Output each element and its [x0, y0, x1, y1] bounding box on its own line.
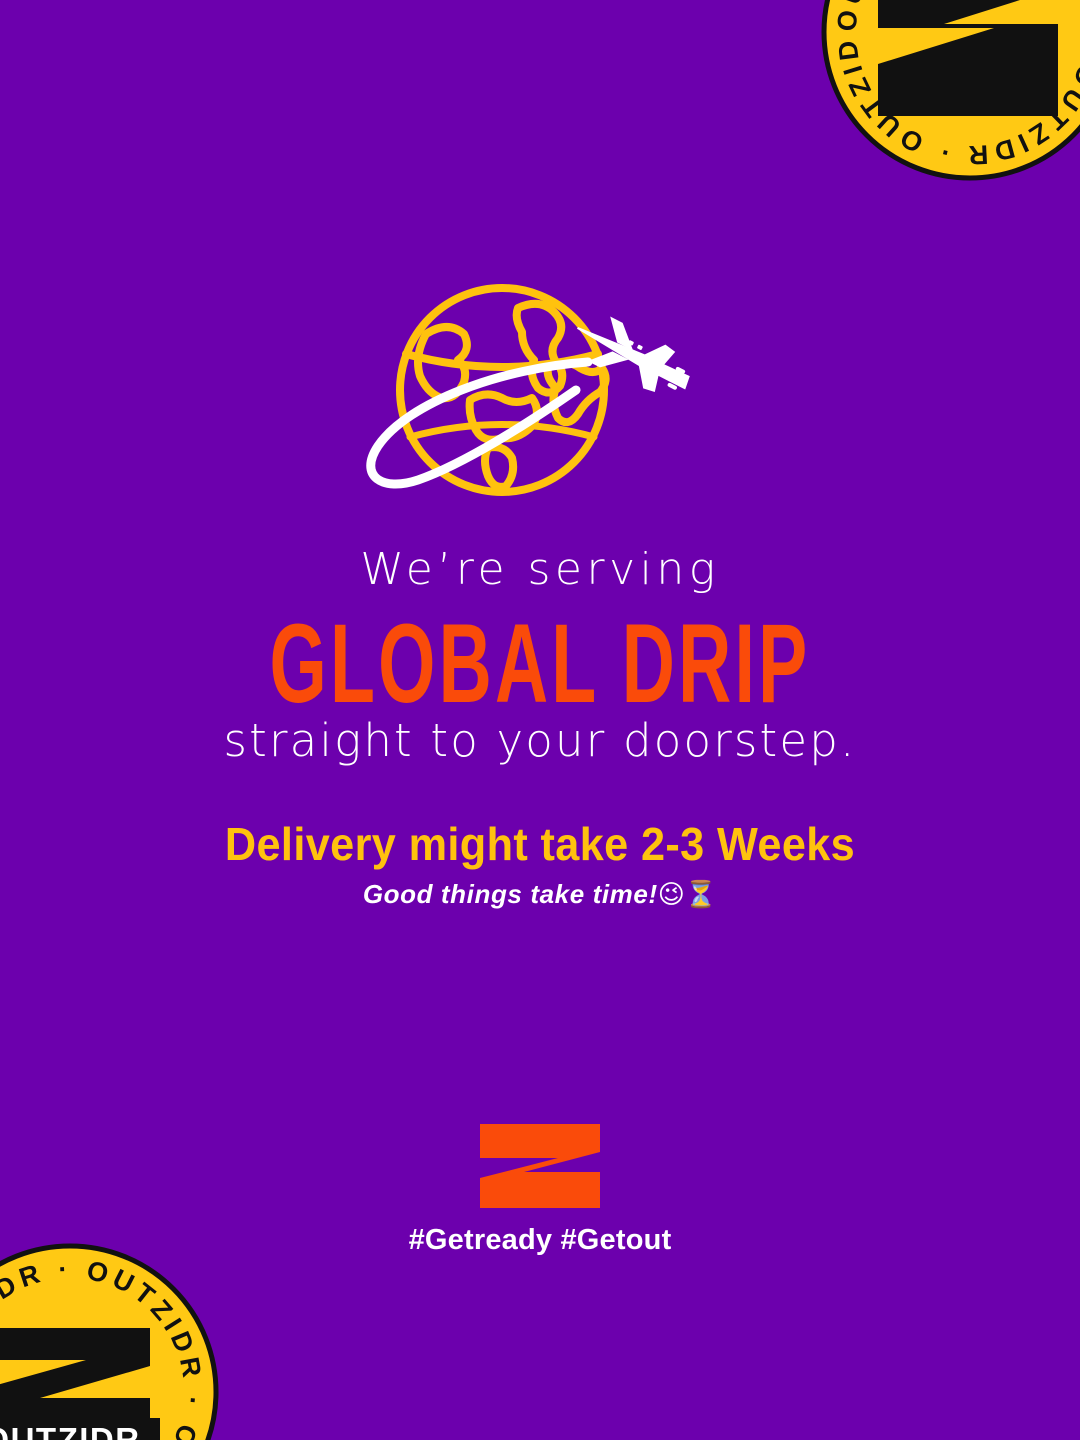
outzidr-z-logo — [478, 1122, 602, 1210]
delivery-block: Delivery might take 2-3 Weeks Good thing… — [0, 820, 1080, 910]
footer-block: #Getready #Getout — [0, 1122, 1080, 1255]
promo-poster: We’re serving GLOBAL DRIP straight to yo… — [0, 0, 1080, 1440]
outzidr-sticker-top-right: OUTZIDR · OUTZIDR · OUTZIDR · OUTZIDR · — [820, 0, 1080, 182]
delivery-estimate: Delivery might take 2-3 Weeks — [32, 820, 1047, 868]
outzidr-sticker-bottom-left: OUTZIDR · OUTZIDR · OUTZIDR · OUTZIDR · … — [0, 1242, 220, 1440]
headline-lede: We’re serving — [0, 548, 1080, 592]
globe-airplane-icon — [352, 272, 720, 508]
headline-emphasis: GLOBAL DRIP — [108, 608, 972, 720]
delivery-note: Good things take time!😉⏳ — [0, 880, 1080, 910]
headline-block: We’re serving GLOBAL DRIP straight to yo… — [0, 548, 1080, 763]
delivery-note-text: Good things take time! — [363, 879, 658, 909]
wink-hourglass-emoji: 😉⏳ — [658, 880, 717, 910]
sticker-wordmark-bottom-left: OUTZIDR — [0, 1421, 141, 1440]
